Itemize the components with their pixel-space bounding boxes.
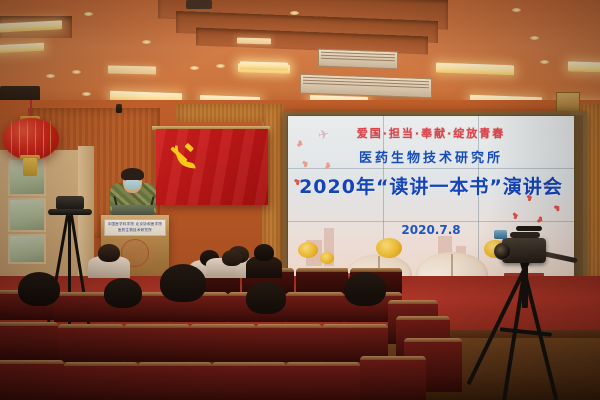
lectern-sign: 中国医学科学院 北京协和医学院 医药生物技术研究所: [104, 219, 166, 236]
seat: [190, 324, 256, 362]
audience-head: [98, 244, 120, 262]
camera-viewfinder-screen: [494, 230, 507, 239]
screen-slogan: 爱国·担当·奉献·绽放青春: [288, 125, 574, 141]
camera-shotgun-mic: [516, 226, 542, 231]
seat: [124, 324, 190, 362]
seat: [58, 324, 124, 362]
seat: [64, 362, 138, 400]
seat: [286, 362, 360, 400]
auditorium-photo: ✈ ❥ ❥ ❥ ❥ ❥ ❥ ❥ ❥ ❥ 爱国·担当·奉献·绽放青春 医药生物技术…: [0, 0, 600, 400]
audience-head: [344, 272, 386, 306]
flower-graphic: [320, 252, 334, 264]
seat: [212, 362, 286, 400]
cpc-flag: [156, 129, 268, 205]
hammer-and-sickle-emblem: [170, 140, 204, 174]
lectern-sign-line1: 中国医学科学院 北京协和医学院: [105, 220, 165, 226]
left-camera-head: [56, 196, 84, 210]
flower-graphic: [376, 238, 402, 258]
screen-event-title: 2020年“读讲一本书”演讲会: [288, 172, 574, 199]
seat: [296, 268, 348, 294]
audience-head: [104, 278, 142, 308]
wall-panel-strip: [176, 104, 266, 122]
seat: [138, 362, 212, 400]
door-pane-lower: [8, 198, 46, 232]
red-lantern: [3, 118, 59, 160]
flower-graphic: [298, 242, 318, 258]
audience-head: [222, 250, 242, 266]
ceiling-projector: [186, 0, 212, 9]
seat: [0, 360, 64, 400]
seat: [360, 356, 426, 400]
lectern-sign-line2: 医药生物技术研究所: [105, 226, 165, 232]
seat: [286, 292, 344, 322]
seat: [256, 324, 322, 362]
camera-lens: [494, 243, 511, 260]
ceiling-ac-vent: [318, 49, 398, 70]
lantern-tassel: [23, 158, 37, 176]
audience-head: [160, 264, 206, 302]
wall-mounted-speaker: [116, 104, 122, 113]
screen-institute-name: 医药生物技术研究所: [288, 147, 574, 166]
audience-head: [246, 282, 286, 314]
audience-head: [254, 244, 274, 261]
seat: [0, 322, 58, 360]
door-pane-bottom: [8, 234, 46, 264]
audience-head: [18, 272, 60, 306]
tripod-center-column: [522, 258, 528, 308]
